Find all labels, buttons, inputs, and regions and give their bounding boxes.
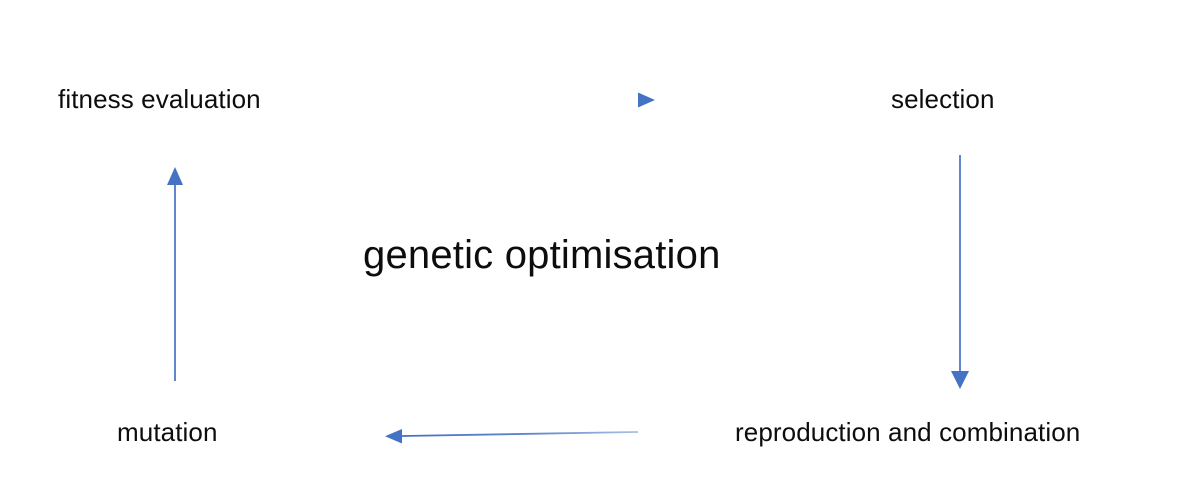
diagram-title: genetic optimisation	[363, 232, 721, 278]
arrow-head-down	[951, 371, 969, 389]
arrow-repro-to-mutation	[385, 429, 638, 444]
node-label-reproduction-and-combination: reproduction and combination	[735, 418, 1080, 448]
arrow-shaft-left	[402, 432, 638, 436]
arrow-selection-to-repro	[951, 155, 969, 389]
arrow-head-up	[167, 167, 183, 185]
node-label-selection: selection	[891, 85, 995, 115]
arrow-head-left	[385, 429, 402, 444]
diagram-canvas: fitness evaluation selection reproductio…	[0, 0, 1200, 501]
node-label-fitness-evaluation: fitness evaluation	[58, 85, 261, 115]
arrow-head-right	[638, 93, 655, 108]
arrow-fitness-to-selection	[392, 93, 655, 108]
arrow-mutation-to-fitness	[167, 167, 183, 381]
node-label-mutation: mutation	[117, 418, 218, 448]
